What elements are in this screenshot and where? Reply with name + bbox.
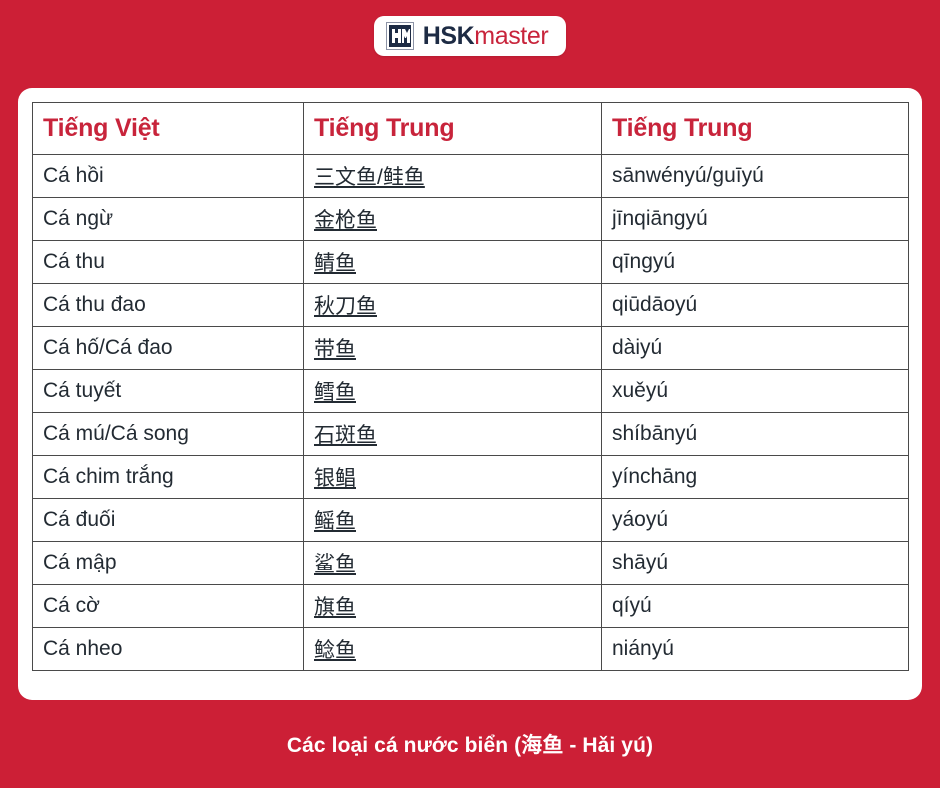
cell-vietnamese: Cá đuối: [33, 499, 304, 542]
caption-text: Các loại cá nước biển (海鱼 - Hǎi yú): [287, 729, 653, 759]
column-header-hanzi: Tiếng Trung: [304, 103, 602, 155]
hskmaster-logo[interactable]: HSKmaster: [374, 16, 567, 56]
cell-vietnamese: Cá nheo: [33, 628, 304, 671]
cell-pinyin: xuěyú: [602, 370, 909, 413]
table-row: Cá thu đao秋刀鱼qiūdāoyú: [33, 284, 909, 327]
cell-hanzi: 鲨鱼: [304, 542, 602, 585]
cell-hanzi: 石斑鱼: [304, 413, 602, 456]
cell-vietnamese: Cá thu: [33, 241, 304, 284]
cell-pinyin: qīngyú: [602, 241, 909, 284]
cell-vietnamese: Cá mập: [33, 542, 304, 585]
cell-pinyin: shíbānyú: [602, 413, 909, 456]
table-row: Cá đuối鳐鱼yáoyú: [33, 499, 909, 542]
table-row: Cá mú/Cá song石斑鱼shíbānyú: [33, 413, 909, 456]
logo-bar: HSKmaster: [0, 0, 940, 72]
cell-hanzi: 银鲳: [304, 456, 602, 499]
cell-vietnamese: Cá cờ: [33, 585, 304, 628]
logo-wordmark: HSKmaster: [423, 24, 549, 49]
cell-pinyin: qiūdāoyú: [602, 284, 909, 327]
table-header-row: Tiếng Việt Tiếng Trung Tiếng Trung: [33, 103, 909, 155]
cell-vietnamese: Cá mú/Cá song: [33, 413, 304, 456]
page-root: { "theme": { "background_red": "#cc1f36"…: [0, 0, 940, 788]
cell-vietnamese: Cá hồi: [33, 155, 304, 198]
table-head: Tiếng Việt Tiếng Trung Tiếng Trung: [33, 103, 909, 155]
cell-pinyin: qíyú: [602, 585, 909, 628]
table-row: Cá thu鲭鱼qīngyú: [33, 241, 909, 284]
table-row: Cá chim trắng银鲳yínchāng: [33, 456, 909, 499]
cell-pinyin: yáoyú: [602, 499, 909, 542]
table-row: Cá mập鲨鱼shāyú: [33, 542, 909, 585]
cell-hanzi: 鳐鱼: [304, 499, 602, 542]
cell-vietnamese: Cá ngừ: [33, 198, 304, 241]
vocabulary-card: Tiếng Việt Tiếng Trung Tiếng Trung Cá hồ…: [18, 88, 922, 700]
cell-pinyin: yínchāng: [602, 456, 909, 499]
cell-vietnamese: Cá chim trắng: [33, 456, 304, 499]
table-row: Cá nheo鲶鱼niányú: [33, 628, 909, 671]
table-row: Cá hố/Cá đao带鱼dàiyú: [33, 327, 909, 370]
cell-hanzi: 鲶鱼: [304, 628, 602, 671]
table-row: Cá cờ旗鱼qíyú: [33, 585, 909, 628]
table-row: Cá hồi三文鱼/鲑鱼sānwényú/guīyú: [33, 155, 909, 198]
cell-vietnamese: Cá tuyết: [33, 370, 304, 413]
cell-hanzi: 三文鱼/鲑鱼: [304, 155, 602, 198]
cell-pinyin: jīnqiāngyú: [602, 198, 909, 241]
cell-pinyin: sānwényú/guīyú: [602, 155, 909, 198]
cell-hanzi: 带鱼: [304, 327, 602, 370]
hm-monogram-icon: [386, 22, 414, 50]
logo-word-hsk: HSK: [423, 22, 475, 50]
column-header-vietnamese: Tiếng Việt: [33, 103, 304, 155]
cell-pinyin: niányú: [602, 628, 909, 671]
cell-hanzi: 旗鱼: [304, 585, 602, 628]
cell-vietnamese: Cá hố/Cá đao: [33, 327, 304, 370]
column-header-pinyin: Tiếng Trung: [602, 103, 909, 155]
vocabulary-table: Tiếng Việt Tiếng Trung Tiếng Trung Cá hồ…: [32, 102, 909, 671]
table-row: Cá ngừ金枪鱼jīnqiāngyú: [33, 198, 909, 241]
cell-hanzi: 秋刀鱼: [304, 284, 602, 327]
logo-word-master: master: [474, 22, 548, 50]
cell-hanzi: 鳕鱼: [304, 370, 602, 413]
table-body: Cá hồi三文鱼/鲑鱼sānwényú/guīyúCá ngừ金枪鱼jīnqi…: [33, 155, 909, 671]
cell-hanzi: 鲭鱼: [304, 241, 602, 284]
caption-bar: Các loại cá nước biển (海鱼 - Hǎi yú): [0, 700, 940, 788]
cell-pinyin: shāyú: [602, 542, 909, 585]
cell-hanzi: 金枪鱼: [304, 198, 602, 241]
cell-pinyin: dàiyú: [602, 327, 909, 370]
table-row: Cá tuyết鳕鱼xuěyú: [33, 370, 909, 413]
cell-vietnamese: Cá thu đao: [33, 284, 304, 327]
